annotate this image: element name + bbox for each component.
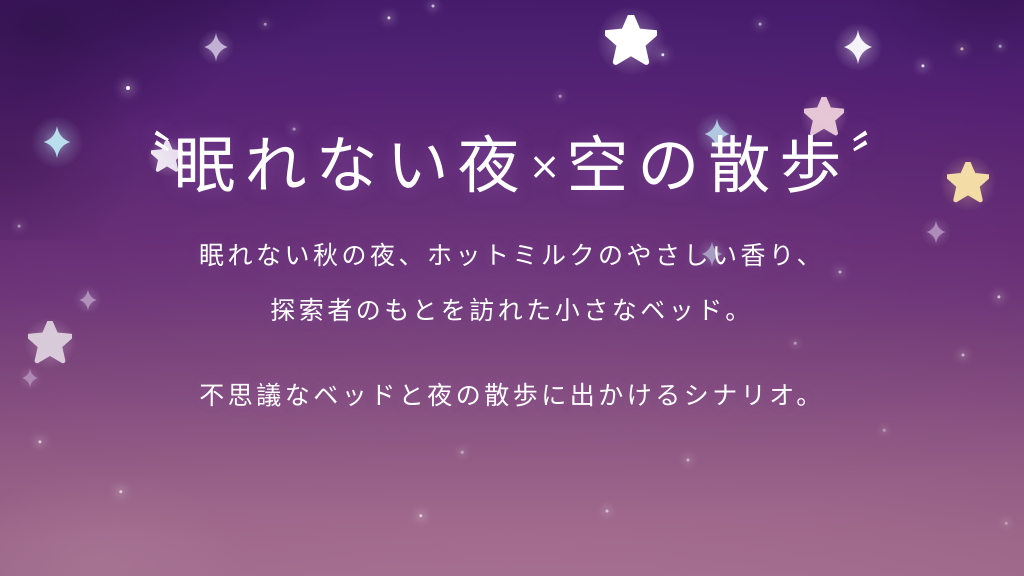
close-quote-mark: 〞 bbox=[850, 132, 904, 184]
dot-09 bbox=[264, 23, 267, 26]
dot-24 bbox=[883, 429, 886, 432]
star-five-gold-right-icon bbox=[947, 162, 989, 204]
dot-20 bbox=[794, 342, 797, 345]
star-cross-left-upper-icon bbox=[40, 125, 74, 159]
dot-03 bbox=[432, 5, 435, 8]
star-glow bbox=[921, 217, 951, 247]
title-separator-x: × bbox=[529, 144, 567, 188]
star-cross-center-upper-icon bbox=[701, 118, 733, 150]
warm-haze-glow bbox=[0, 406, 350, 576]
dot-08 bbox=[921, 64, 924, 67]
dot-22 bbox=[461, 451, 464, 454]
dot-16 bbox=[606, 510, 609, 513]
dot-06 bbox=[960, 47, 963, 50]
star-glow bbox=[834, 23, 882, 71]
star-cross-top-left-icon bbox=[201, 32, 231, 62]
star-glow bbox=[800, 93, 848, 141]
title-part-left: 眠れない夜 bbox=[174, 129, 529, 202]
dot-12 bbox=[962, 354, 965, 357]
star-glow bbox=[695, 112, 739, 156]
tree-canopy-silhouette-right bbox=[754, 0, 1024, 160]
star-glow bbox=[74, 286, 102, 314]
dot-18 bbox=[559, 95, 562, 98]
description-line-3: 不思議なベッドと夜の散歩に出かけるシナリオ。 bbox=[199, 383, 825, 408]
star-glow bbox=[18, 366, 42, 390]
star-glow bbox=[940, 155, 996, 211]
dot-02 bbox=[387, 16, 390, 19]
dot-13 bbox=[38, 440, 41, 443]
dot-04 bbox=[661, 53, 664, 56]
tree-canopy-silhouette-left bbox=[0, 0, 430, 240]
dot-15 bbox=[419, 514, 422, 517]
star-glow bbox=[24, 317, 76, 369]
dot-05 bbox=[759, 23, 762, 26]
dot-19 bbox=[293, 128, 296, 131]
star-cross-right-low-icon bbox=[699, 241, 725, 267]
star-five-title-left-icon bbox=[151, 141, 183, 173]
star-glow bbox=[597, 7, 665, 75]
star-five-left-mid-icon bbox=[28, 321, 72, 365]
star-glow bbox=[147, 137, 187, 177]
dot-01 bbox=[126, 86, 130, 90]
dot-21 bbox=[18, 225, 21, 228]
dot-07 bbox=[999, 45, 1002, 48]
star-five-right-top-icon bbox=[804, 97, 844, 137]
dot-10 bbox=[839, 271, 842, 274]
description-line-2: 探索者のもとを訪れた小さなベッド。 bbox=[199, 298, 825, 323]
star-cross-left-low-icon bbox=[77, 289, 99, 311]
star-cross-right-mid-icon bbox=[924, 220, 948, 244]
description-block: 眠れない秋の夜、ホットミルクのやさしい香り、 探索者のもとを訪れた小さなベッド。… bbox=[199, 243, 825, 408]
star-glow bbox=[696, 238, 728, 270]
star-glow bbox=[198, 29, 234, 65]
vignette-overlay bbox=[0, 0, 1024, 576]
dut-14 bbox=[119, 490, 122, 493]
star-cross-right-top-icon bbox=[840, 29, 876, 65]
open-quote-mark: 〝 bbox=[120, 132, 174, 184]
star-five-mid-top-icon bbox=[605, 15, 657, 67]
dot-17 bbox=[687, 459, 690, 462]
text-layer: 〝眠れない夜×空の散歩〞 眠れない秋の夜、ホットミルクのやさしい香り、 探索者の… bbox=[0, 0, 1024, 576]
star-cross-left-bottom-icon bbox=[20, 368, 40, 388]
star-glow bbox=[31, 116, 83, 168]
dot-23 bbox=[1005, 522, 1008, 525]
title-card-scene: 〝眠れない夜×空の散歩〞 眠れない秋の夜、ホットミルクのやさしい香り、 探索者の… bbox=[0, 0, 1024, 576]
page-title: 〝眠れない夜×空の散歩〞 bbox=[120, 132, 905, 197]
description-line-1: 眠れない秋の夜、ホットミルクのやさしい香り、 bbox=[199, 243, 825, 268]
title-part-right: 空の散歩 bbox=[566, 129, 850, 202]
dot-11 bbox=[997, 295, 1000, 298]
